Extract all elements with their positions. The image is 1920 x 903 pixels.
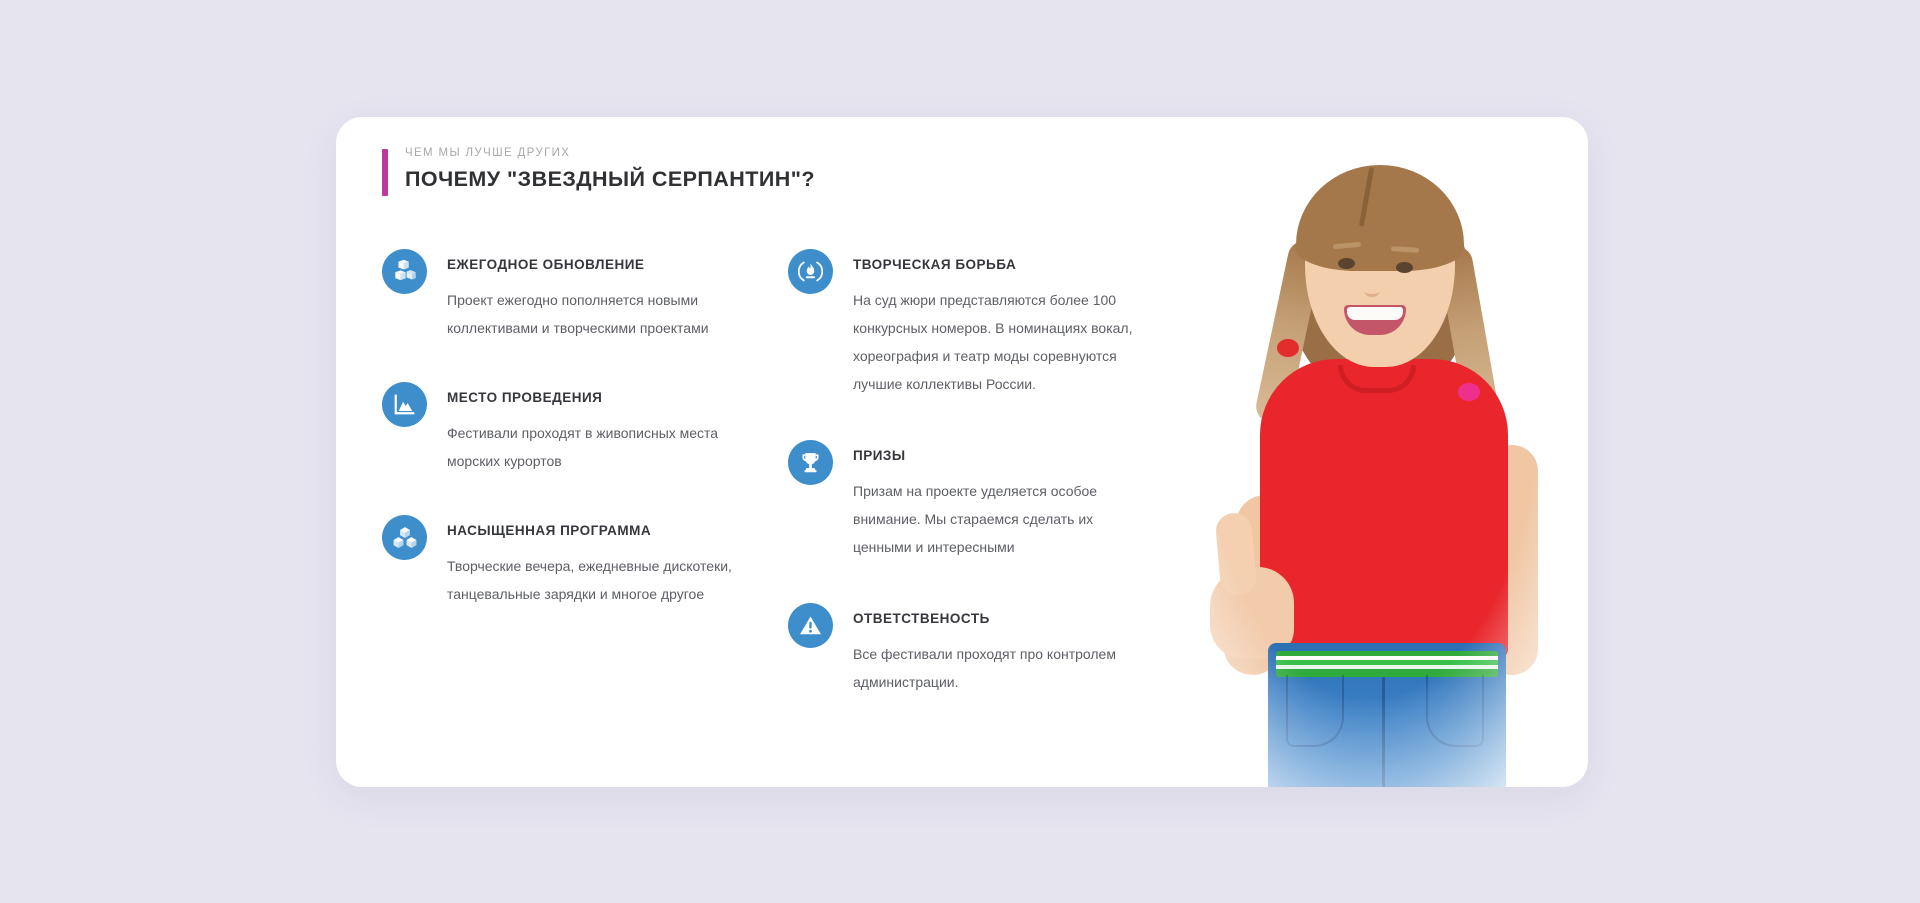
feature-columns: ЕЖЕГОДНОЕ ОБНОВЛЕНИЕ Проект ежегодно поп… <box>382 247 1282 696</box>
hair-part <box>1359 167 1374 227</box>
jeans-pocket-right <box>1426 675 1484 747</box>
feature-item: НАСЫЩЕННАЯ ПРОГРАММА Творческие вечера, … <box>382 513 744 608</box>
warning-triangle-icon <box>788 603 833 648</box>
card-header: ЧЕМ МЫ ЛУЧШЕ ДРУГИХ ПОЧЕМУ "ЗВЕЗДНЫЙ СЕР… <box>382 146 815 192</box>
mountain-landscape-icon <box>382 382 427 427</box>
feature-item: ЕЖЕГОДНОЕ ОБНОВЛЕНИЕ Проект ежегодно поп… <box>382 247 744 342</box>
hair-back <box>1289 167 1471 395</box>
neck <box>1346 347 1402 387</box>
feature-text: На суд жюри представляются более 100 кон… <box>853 286 1143 398</box>
hair-top <box>1296 165 1464 271</box>
feature-body: ПРИЗЫ Призам на проекте уделяется особое… <box>853 438 1143 561</box>
head <box>1305 185 1455 367</box>
feature-text: Все фестивали проходят про контролем адм… <box>853 640 1143 696</box>
feature-column-left: ЕЖЕГОДНОЕ ОБНОВЛЕНИЕ Проект ежегодно поп… <box>382 247 744 696</box>
feature-item: ТВОРЧЕСКАЯ БОРЬБА На суд жюри представля… <box>788 247 1150 398</box>
feature-title: ЕЖЕГОДНОЕ ОБНОВЛЕНИЕ <box>447 256 744 273</box>
tshirt-collar <box>1338 365 1416 393</box>
feature-text: Фестивали проходят в живописных места мо… <box>447 419 744 475</box>
feature-title: НАСЫЩЕННАЯ ПРОГРАММА <box>447 522 744 539</box>
feature-body: ТВОРЧЕСКАЯ БОРЬБА На суд жюри представля… <box>853 247 1143 398</box>
green-striped-belt <box>1276 651 1498 677</box>
feature-item: ПРИЗЫ Призам на проекте уделяется особое… <box>788 438 1150 561</box>
boxes-stack-icon <box>382 249 427 294</box>
eyebrow-label: ЧЕМ МЫ ЛУЧШЕ ДРУГИХ <box>405 146 815 160</box>
feature-text: Творческие вечера, ежедневные дискотеки,… <box>447 552 744 608</box>
eye-left <box>1338 258 1355 269</box>
jeans-seam <box>1382 677 1385 787</box>
feature-text: Призам на проекте уделяется особое внима… <box>853 477 1143 561</box>
features-card: ЧЕМ МЫ ЛУЧШЕ ДРУГИХ ПОЧЕМУ "ЗВЕЗДНЫЙ СЕР… <box>336 117 1588 787</box>
trophy-icon <box>788 440 833 485</box>
feature-body: ОТВЕТСТВЕНОСТЬ Все фестивали проходят пр… <box>853 601 1143 696</box>
arm-right <box>1486 445 1538 675</box>
feature-body: МЕСТО ПРОВЕДЕНИЯ Фестивали проходят в жи… <box>447 380 744 475</box>
nose <box>1364 285 1380 297</box>
hair-tie-right <box>1458 383 1480 401</box>
red-tshirt <box>1260 359 1508 659</box>
feature-title: ТВОРЧЕСКАЯ БОРЬБА <box>853 256 1143 273</box>
feature-body: ЕЖЕГОДНОЕ ОБНОВЛЕНИЕ Проект ежегодно поп… <box>447 247 744 342</box>
feature-text: Проект ежегодно пополняется новыми колле… <box>447 286 744 342</box>
feature-title: МЕСТО ПРОВЕДЕНИЯ <box>447 389 744 406</box>
eyebrow-right <box>1391 246 1419 253</box>
mouth <box>1344 305 1406 335</box>
eye-right <box>1396 262 1413 273</box>
eyebrow-left <box>1333 242 1361 249</box>
feature-title: ОТВЕТСТВЕНОСТЬ <box>853 610 1143 627</box>
blue-jeans <box>1268 643 1506 787</box>
page-root: ЧЕМ МЫ ЛУЧШЕ ДРУГИХ ПОЧЕМУ "ЗВЕЗДНЫЙ СЕР… <box>0 0 1920 903</box>
teeth <box>1347 307 1403 320</box>
jeans-pocket-left <box>1286 675 1344 747</box>
accent-bar <box>382 149 388 196</box>
feature-body: НАСЫЩЕННАЯ ПРОГРАММА Творческие вечера, … <box>447 513 744 608</box>
feature-item: ОТВЕТСТВЕНОСТЬ Все фестивали проходят пр… <box>788 601 1150 696</box>
page-title: ПОЧЕМУ "ЗВЕЗДНЫЙ СЕРПАНТИН"? <box>405 166 815 192</box>
feature-item: МЕСТО ПРОВЕДЕНИЯ Фестивали проходят в жи… <box>382 380 744 475</box>
feature-column-right: ТВОРЧЕСКАЯ БОРЬБА На суд жюри представля… <box>788 247 1150 696</box>
braid-right <box>1436 243 1502 432</box>
flame-icon <box>788 249 833 294</box>
cubes-icon <box>382 515 427 560</box>
feature-title: ПРИЗЫ <box>853 447 1143 464</box>
